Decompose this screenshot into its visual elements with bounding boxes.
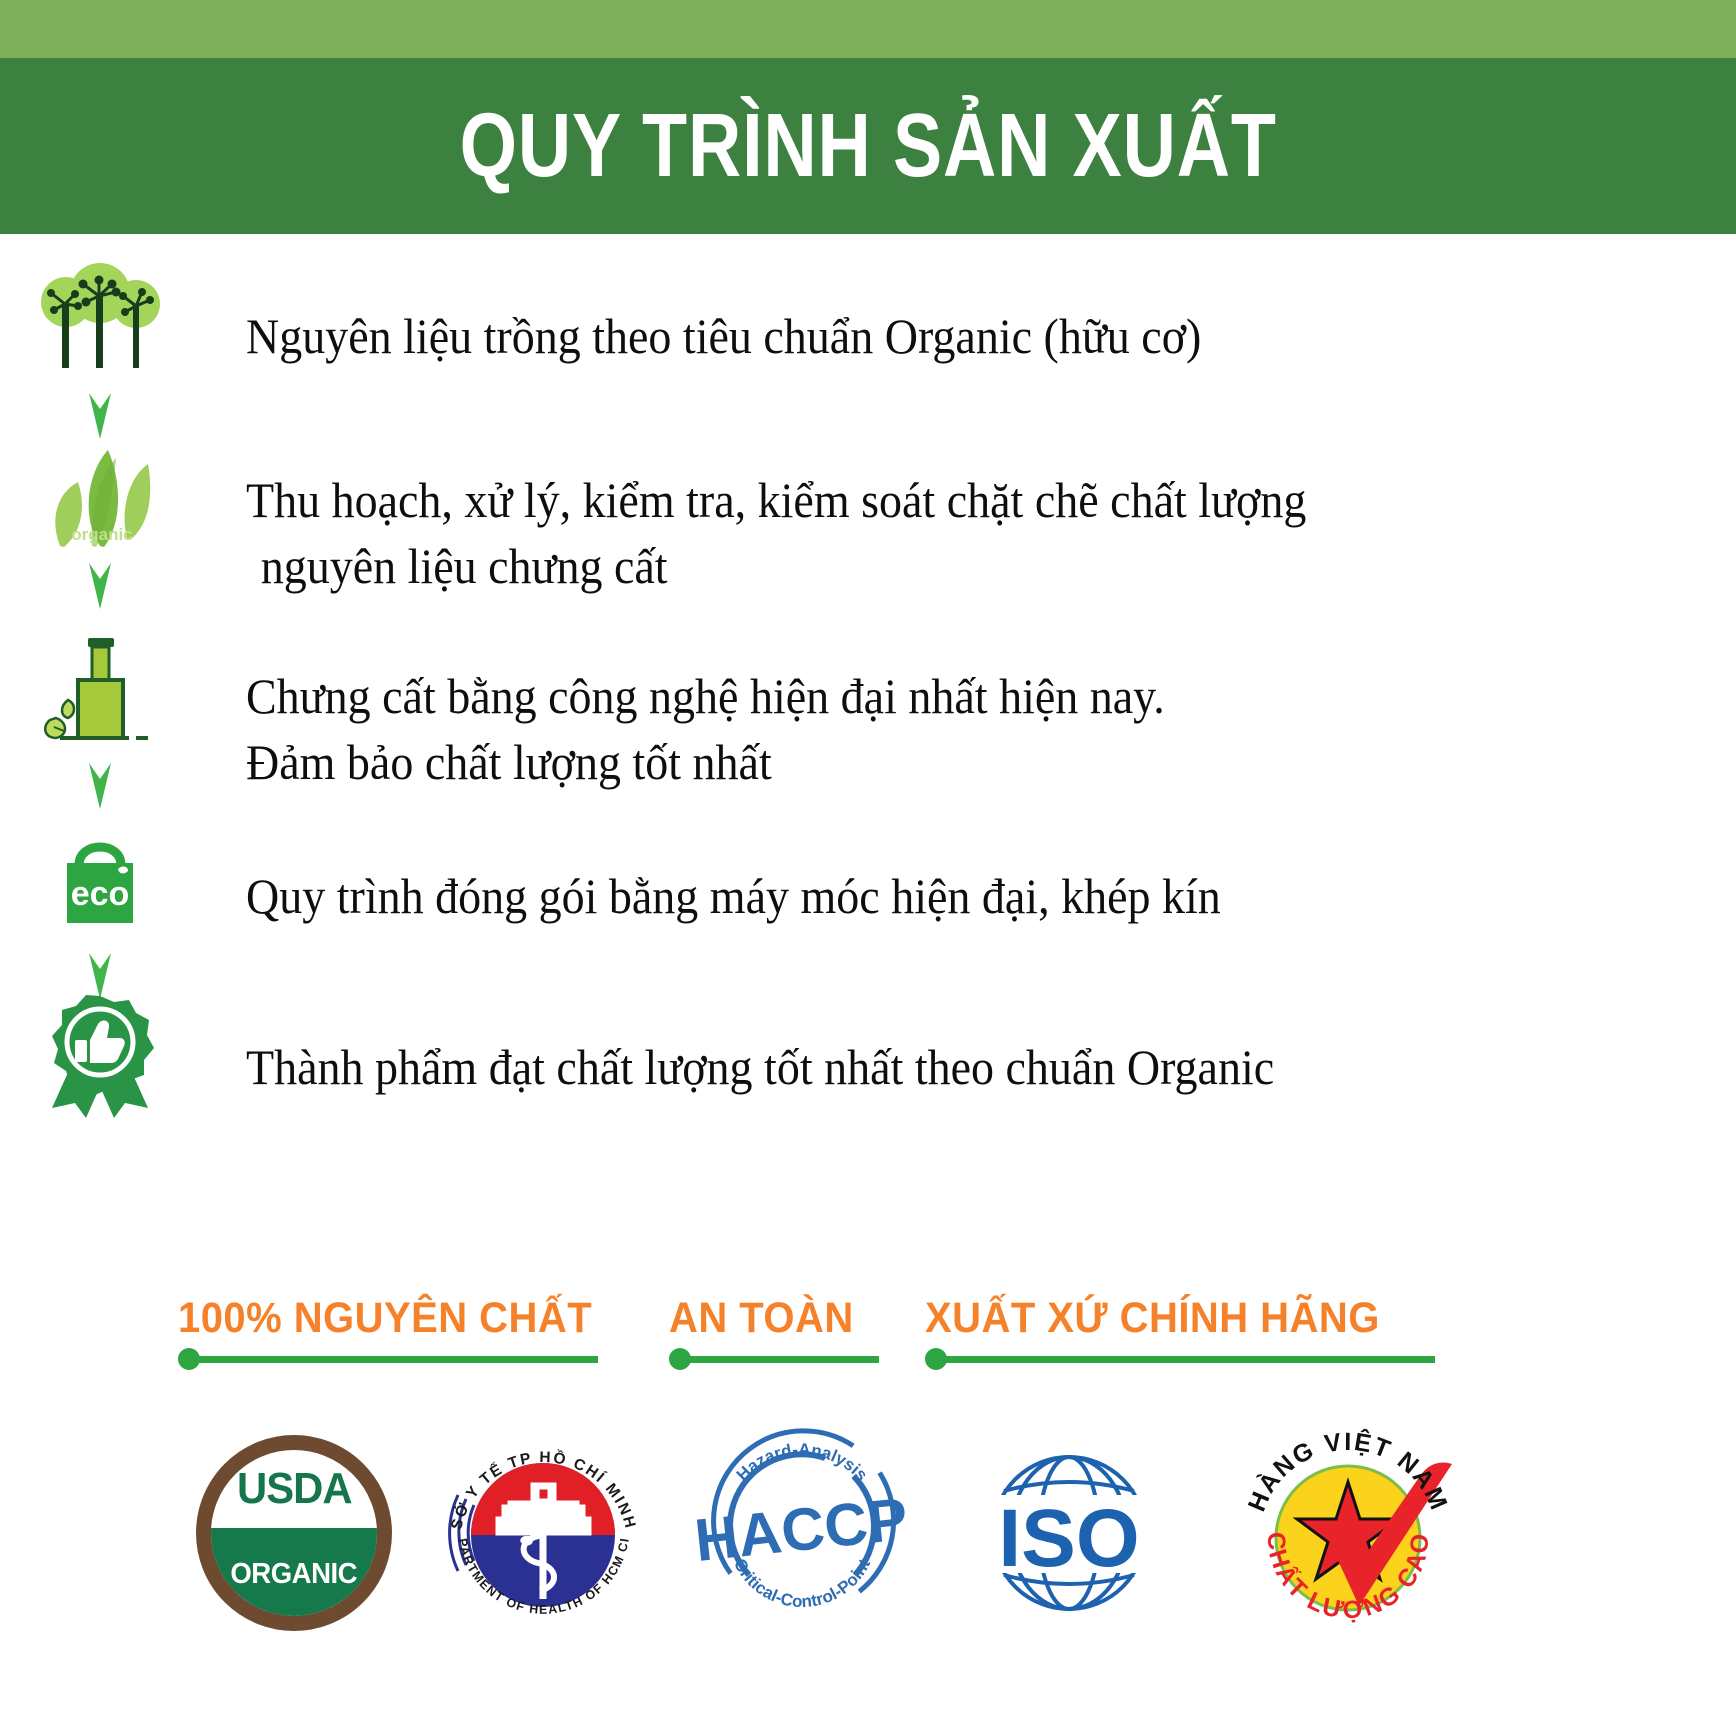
step-3-text: Chưng cất bằng công nghệ hiện đại nhất h… [200,625,1736,795]
feature-label-3: XUẤT XỨ CHÍNH HÃNG [925,1295,1380,1342]
feature-rule-3 [925,1348,1435,1370]
header-band: QUY TRÌNH SẢN XUẤT [0,58,1736,234]
rule-dot-1 [178,1348,200,1370]
haccp-seal: Hazard-Analysis Critical-Control-Point H… [695,1425,910,1640]
step-5-line-1: Thành phẩm đạt chất lượng tốt nhất theo … [246,1034,1580,1100]
feature-100-percent-pure: 100% NGUYÊN CHẤT [178,1295,623,1370]
feature-label-2: AN TOÀN [669,1295,854,1342]
rule-bar-1 [198,1356,598,1363]
feature-label-1: 100% NGUYÊN CHẤT [178,1295,592,1342]
feature-rule-1 [178,1348,598,1370]
rule-bar-3 [945,1356,1435,1363]
hang-viet-nam-chat-luong-cao-seal: HÀNG VIỆT NAM CHẤT LƯỢNG CAO [1228,1420,1468,1645]
rule-dot-2 [669,1348,691,1370]
certification-logos: USDA ORGANIC [0,1420,1736,1645]
step-2-icon-column: organic [0,425,200,615]
feature-genuine-origin: XUẤT XỨ CHÍNH HÃNG [925,1295,1435,1370]
infographic-page: QUY TRÌNH SẢN XUẤT [0,0,1736,1724]
flow-arrow-3 [80,755,120,815]
eco-shopping-bag-icon: eco [25,815,175,945]
iso-seal: ISO [954,1433,1184,1633]
step-1-text: Nguyên liệu trồng theo tiêu chuẩn Organi… [200,255,1736,369]
page-title: QUY TRÌNH SẢN XUẤT [459,101,1276,191]
feature-headings: 100% NGUYÊN CHẤT AN TOÀN XUẤT XỨ CHÍNH H… [0,1295,1736,1370]
step-3-icon-column [0,625,200,815]
distillation-bottle-icon [25,625,175,755]
step-3-line-1: Chưng cất bằng công nghệ hiện đại nhất h… [246,663,1580,729]
usda-bottom-text: ORGANIC [231,1558,358,1591]
step-2-line-1: Thu hoạch, xử lý, kiểm tra, kiểm soát ch… [246,467,1580,533]
step-4-icon-column: eco [0,815,200,1005]
quality-badge-thumbs-up-icon [25,990,175,1120]
rule-dot-3 [925,1348,947,1370]
step-1-line-1: Nguyên liệu trồng theo tiêu chuẩn Organi… [246,303,1580,369]
process-step-2: organic Thu hoạch, xử lý, kiểm tra, kiểm… [0,425,1736,625]
process-step-1: Nguyên liệu trồng theo tiêu chuẩn Organi… [0,255,1736,425]
top-accent-stripe [0,0,1736,58]
eco-bag-label: eco [71,875,130,913]
feature-safe: AN TOÀN [669,1295,879,1370]
step-5-icon-column [0,990,200,1120]
feature-rule-2 [669,1348,879,1370]
rule-bar-2 [689,1356,879,1363]
usda-organic-seal: USDA ORGANIC [196,1435,392,1631]
step-2-line-2: nguyên liệu chưng cất [246,533,1580,599]
flow-arrow-2 [80,555,120,615]
step-4-text: Quy trình đóng gói bằng máy móc hiện đại… [200,815,1736,929]
iso-center-text: ISO [998,1493,1139,1584]
haccp-center-text: HACCP [695,1485,910,1574]
usda-top-text: USDA [237,1464,352,1514]
process-step-3: Chưng cất bằng công nghệ hiện đại nhất h… [0,625,1736,815]
process-step-4: eco Quy trình đóng gói bằng máy móc hiện… [0,815,1736,990]
process-step-5: Thành phẩm đạt chất lượng tốt nhất theo … [0,990,1736,1150]
step-5-text: Thành phẩm đạt chất lượng tốt nhất theo … [200,990,1736,1100]
step-3-line-2: Đảm bảo chất lượng tốt nhất [246,729,1580,795]
step-1-icon-column [0,255,200,445]
step-4-line-1: Quy trình đóng gói bằng máy móc hiện đại… [246,863,1580,929]
department-of-health-hcmc-seal: SỞ Y TẾ TP HỒ CHÍ MINH DEPARTMENT OF HEA… [436,1425,651,1640]
three-organic-plants-icon [25,255,175,385]
organic-leaves-icon: organic [25,425,175,555]
organic-leaf-label: organic [71,525,132,544]
step-2-text: Thu hoạch, xử lý, kiểm tra, kiểm soát ch… [200,425,1736,599]
process-steps: Nguyên liệu trồng theo tiêu chuẩn Organi… [0,255,1736,1150]
